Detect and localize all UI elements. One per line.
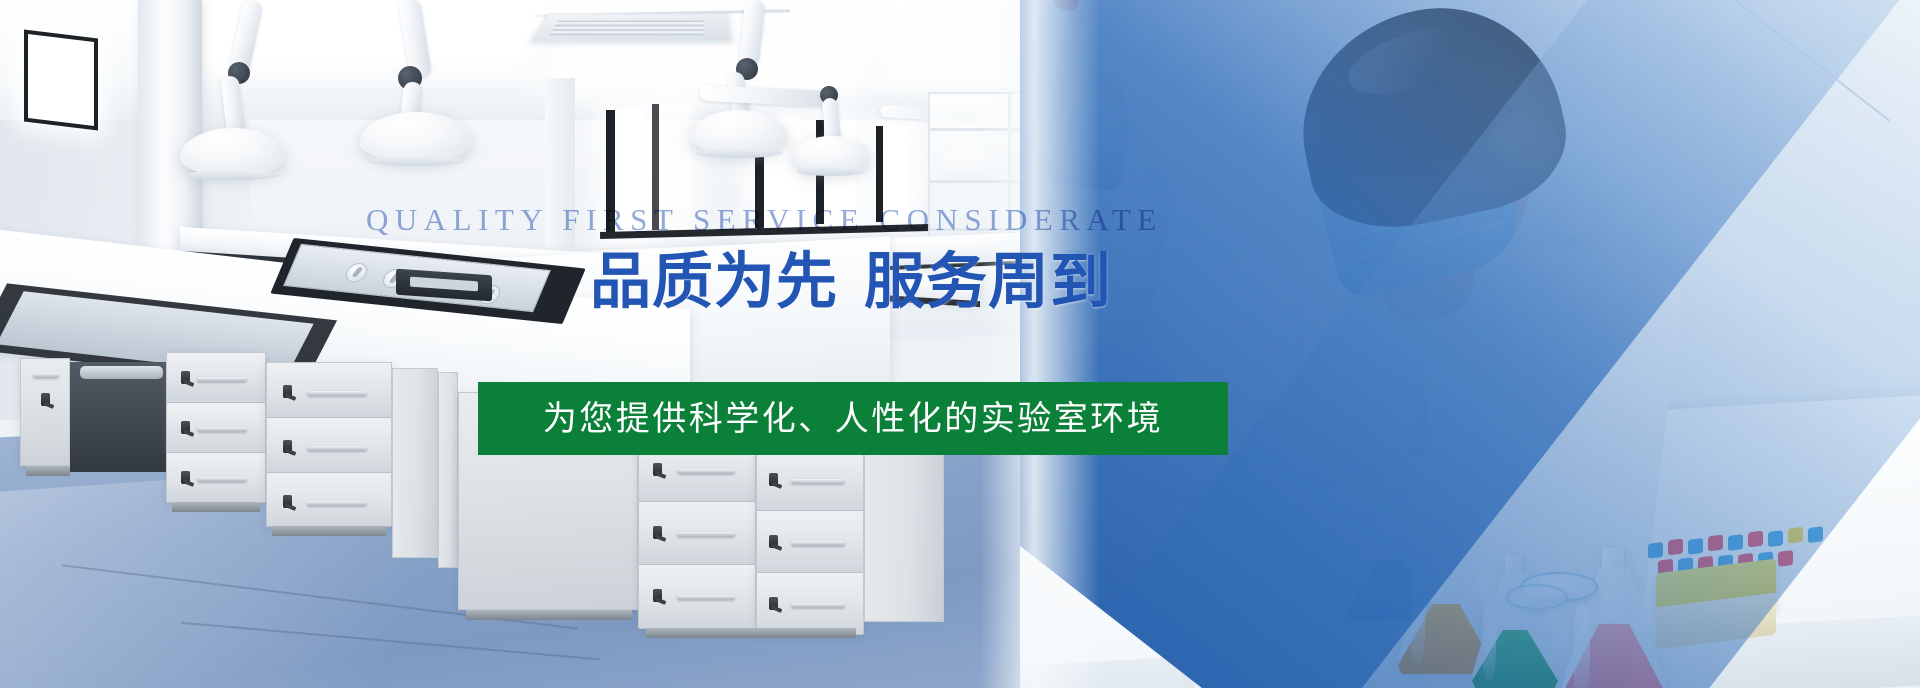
banner-eyebrow-text: QUALITY FIRST SERVICE CONSIDERATE <box>366 200 1163 240</box>
hero-banner: QUALITY FIRST SERVICE CONSIDERATE 品质为先服务… <box>0 0 1920 688</box>
headline-part-2: 服务周到 <box>864 247 1112 315</box>
banner-subtitle-text: 为您提供科学化、人性化的实验室环境 <box>543 399 1164 439</box>
banner-subtitle-bar: 为您提供科学化、人性化的实验室环境 <box>478 382 1228 455</box>
banner-headline: 品质为先服务周到 <box>590 248 1112 314</box>
headline-part-1: 品质为先 <box>590 247 838 315</box>
banner-text-layer: QUALITY FIRST SERVICE CONSIDERATE 品质为先服务… <box>0 0 1920 688</box>
